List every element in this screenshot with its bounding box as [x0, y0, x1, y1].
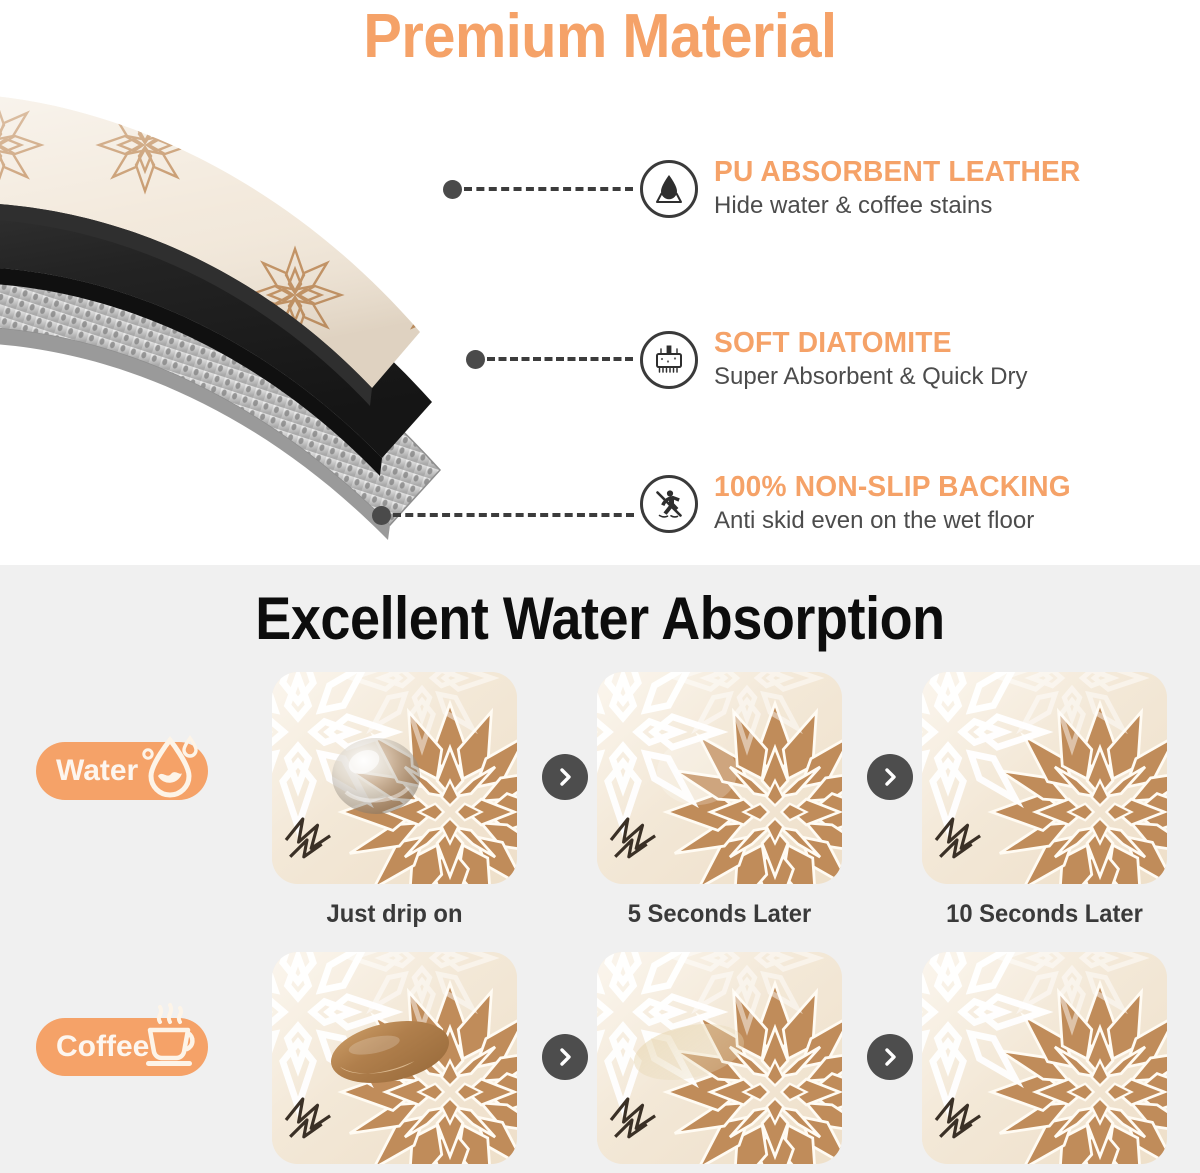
connector-dash-2 [487, 357, 633, 361]
coffee-badge-label: Coffee [56, 1018, 149, 1076]
coffee-stage-tile-3 [922, 952, 1167, 1164]
water-badge: Water [36, 742, 208, 800]
feature-subtitle: Super Absorbent & Quick Dry [714, 361, 1027, 393]
feature-callout-pu-leather: PU ABSORBENT LEATHER Hide water & coffee… [640, 155, 1092, 222]
connector-dot-1 [443, 180, 462, 199]
water-stage-tile-1 [272, 672, 517, 884]
water-badge-label: Water [56, 742, 138, 800]
stage-caption-3: 10 Seconds Later [928, 898, 1161, 930]
connector-dot-2 [466, 350, 485, 369]
connector-dot-3 [372, 506, 391, 525]
water-stage-tile-2 [597, 672, 842, 884]
coffee-stage-tile-1 [272, 952, 517, 1164]
feature-text-non-slip: 100% NON-SLIP BACKING Anti skid even on … [714, 470, 1082, 537]
connector-line-3 [372, 506, 634, 524]
water-droplet [332, 738, 420, 814]
feature-subtitle: Hide water & coffee stains [714, 190, 1092, 222]
feature-callout-non-slip: 100% NON-SLIP BACKING Anti skid even on … [640, 470, 1082, 537]
feature-subtitle: Anti skid even on the wet floor [714, 505, 1082, 537]
feature-text-pu-leather: PU ABSORBENT LEATHER Hide water & coffee… [714, 155, 1092, 222]
feature-title: PU ABSORBENT LEATHER [714, 155, 1080, 189]
coffee-badge: Coffee [36, 1018, 208, 1076]
layered-mat-product-image [0, 70, 540, 565]
chevron-right-icon [542, 754, 588, 800]
water-drop-icon [138, 726, 202, 800]
connector-dash-3 [393, 513, 634, 517]
chevron-right-icon [542, 1034, 588, 1080]
stage-caption-2: 5 Seconds Later [603, 898, 836, 930]
coffee-cup-icon [138, 1002, 202, 1076]
feature-callout-diatomite: SOFT DIATOMITE Super Absorbent & Quick D… [640, 326, 1027, 393]
absorbent-brush-icon [640, 331, 698, 389]
connector-dash-1 [464, 187, 633, 191]
stage-caption-1: Just drip on [278, 898, 511, 930]
water-stage-tile-3 [922, 672, 1167, 884]
feature-title: 100% NON-SLIP BACKING [714, 470, 1071, 504]
water-drop-on-mat-icon [640, 160, 698, 218]
premium-material-title: Premium Material [42, 2, 1158, 72]
feature-title: SOFT DIATOMITE [714, 326, 1018, 360]
connector-line-2 [466, 350, 633, 368]
chevron-right-icon [867, 1034, 913, 1080]
premium-material-section: Premium Material [0, 0, 1200, 565]
feature-text-diatomite: SOFT DIATOMITE Super Absorbent & Quick D… [714, 326, 1027, 393]
chevron-right-icon [867, 754, 913, 800]
coffee-stage-tile-2 [597, 952, 842, 1164]
water-absorption-title: Excellent Water Absorption [60, 585, 1140, 653]
no-slipping-person-icon [640, 475, 698, 533]
connector-line-1 [443, 180, 633, 198]
